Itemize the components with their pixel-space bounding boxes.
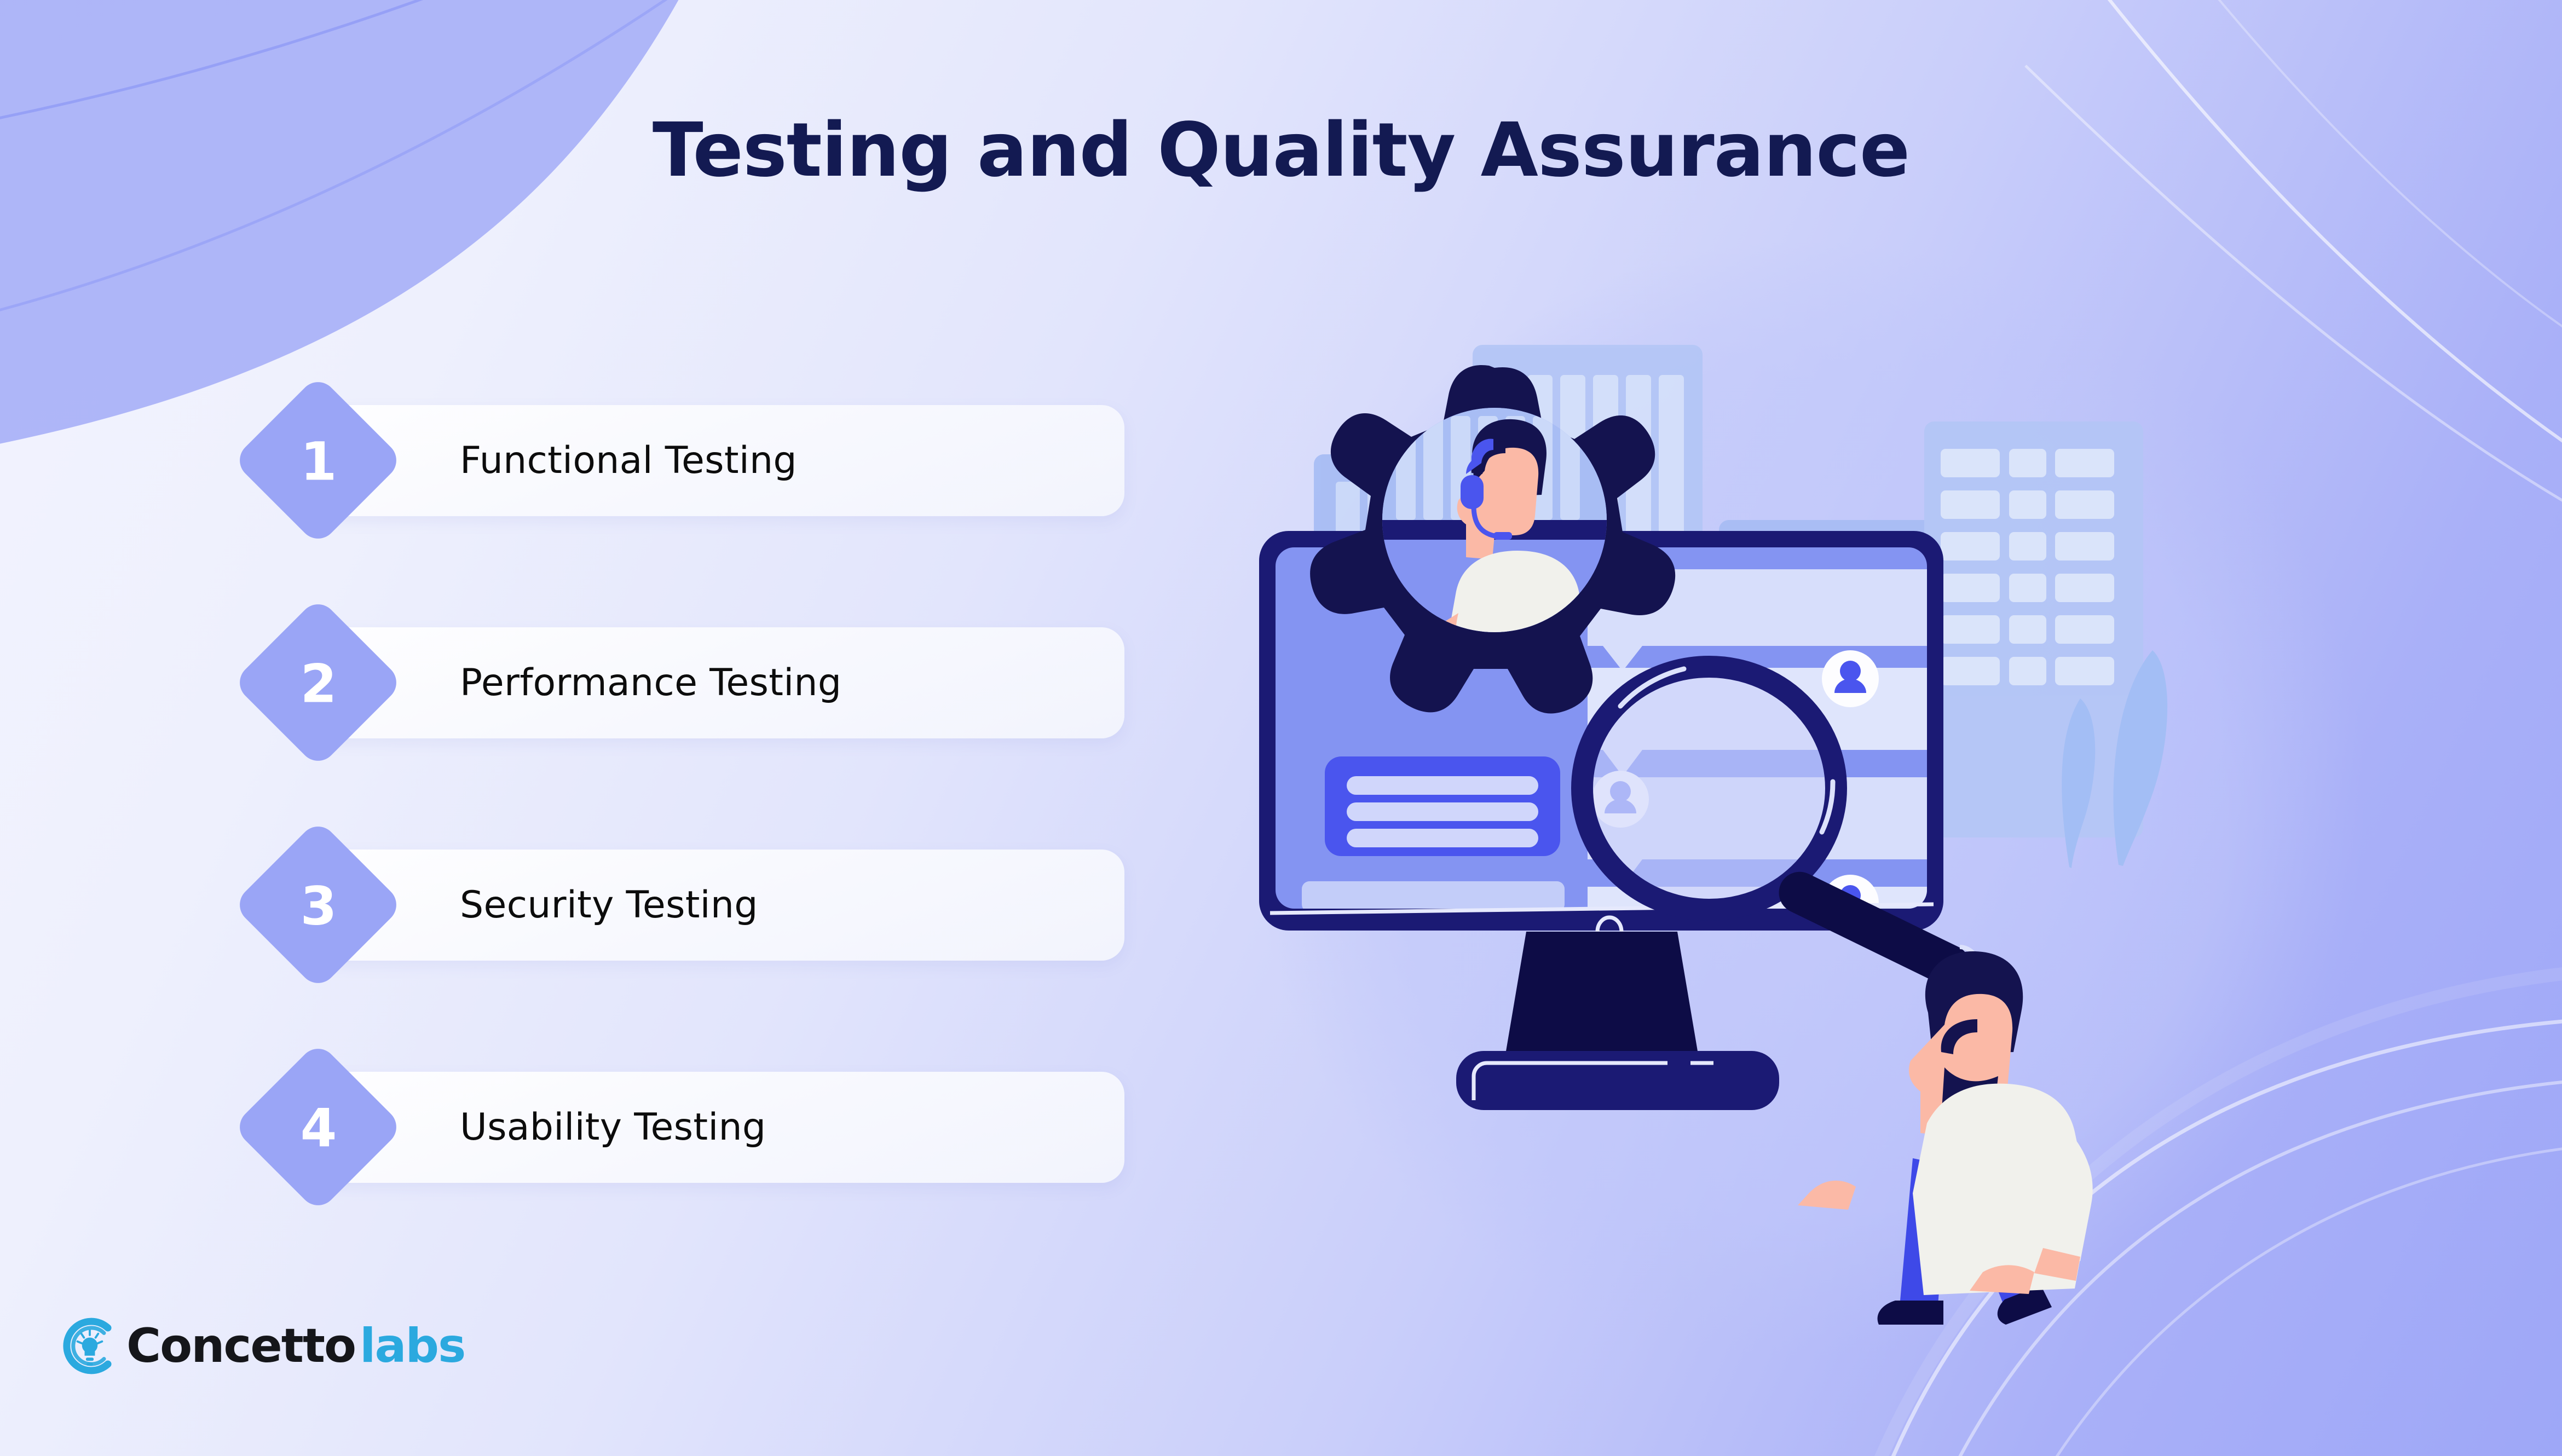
brand-logo[interactable]: Concetto labs [57,1314,465,1378]
bearded-man-holding-magnifier [1798,951,2093,1325]
hand-upper [1798,1181,1856,1210]
list-item-number-badge: 3 [232,819,404,991]
qa-testing-illustration [1237,285,2365,1325]
list-item-label: Security Testing [460,850,758,961]
shoe-back [1878,1301,1943,1325]
illustration-svg [1237,285,2365,1325]
headphone-cup [1461,475,1484,509]
slide-canvas: Testing and Quality Assurance 1 Function… [0,0,2562,1456]
list-item-number: 1 [300,435,337,488]
logo-word-accent: labs [360,1322,465,1370]
list-item-number: 2 [300,657,337,710]
list-item-number-badge: 2 [232,597,404,769]
list-item[interactable]: 3 Security Testing [257,850,1089,961]
list-item-number: 3 [300,880,337,932]
testing-types-list: 1 Functional Testing 2 Performance Testi… [257,405,1089,1183]
list-item-label: Usability Testing [460,1072,766,1183]
monitor-base [1456,1051,1779,1110]
logo-word-primary: Concetto [126,1322,355,1370]
list-item-label: Functional Testing [460,405,797,516]
list-item[interactable]: 4 Usability Testing [257,1072,1089,1183]
list-item[interactable]: 1 Functional Testing [257,405,1089,516]
page-title: Testing and Quality Assurance [0,107,2562,194]
headset-mic [1493,532,1512,540]
list-item[interactable]: 2 Performance Testing [257,627,1089,738]
list-item-label: Performance Testing [460,627,841,738]
list-item-number: 4 [300,1102,337,1154]
concetto-c-lightbulb-icon [57,1314,122,1378]
monitor-neck [1504,932,1699,1061]
